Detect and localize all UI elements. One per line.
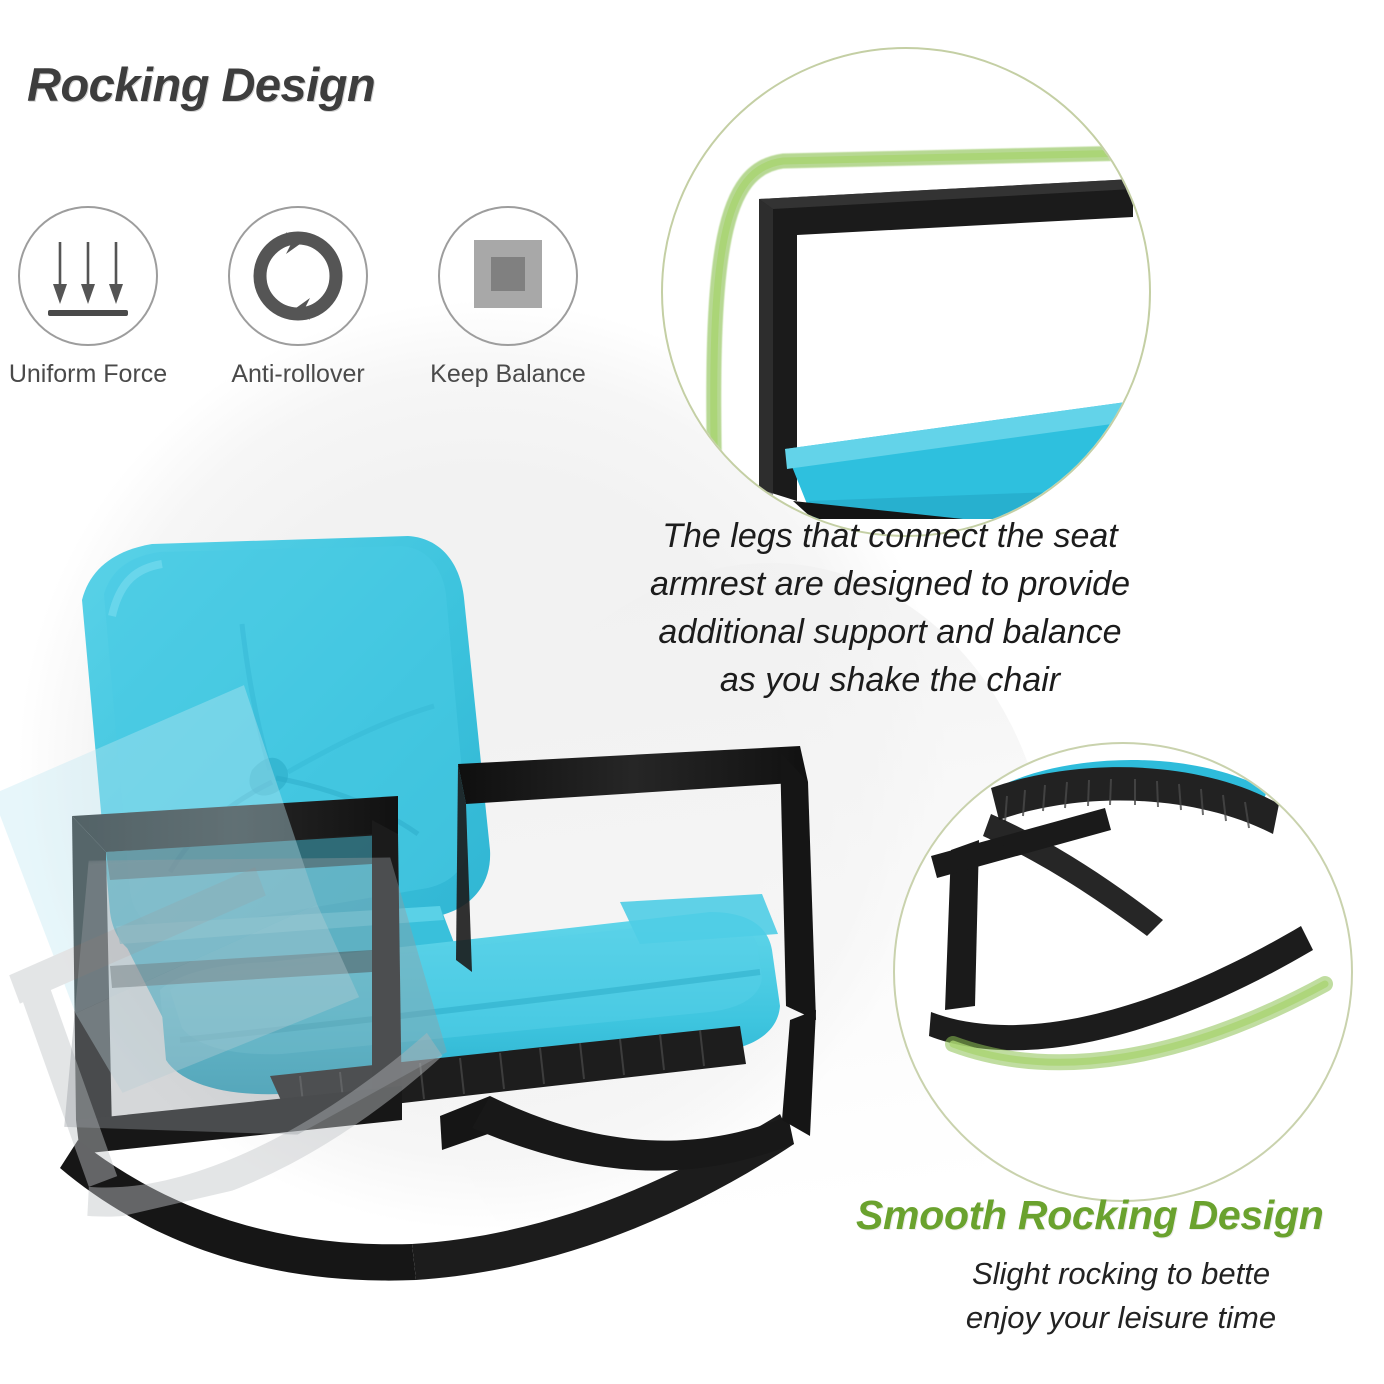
nested-squares-icon <box>456 224 560 328</box>
bottom-caption-line-1: Slight rocking to bette <box>876 1252 1366 1296</box>
feature-circle <box>18 206 158 346</box>
feature-label: Keep Balance <box>430 360 586 389</box>
product-photo-rocking-chair <box>20 520 840 1340</box>
feature-label: Uniform Force <box>9 360 167 389</box>
infographic-canvas: Rocking Design Uniform Force <box>0 0 1384 1384</box>
inset-rocker-closeup <box>893 742 1353 1202</box>
feature-icon-row: Uniform Force Anti-rollover Keep Bal <box>14 206 582 389</box>
feature-uniform-force: Uniform Force <box>14 206 162 389</box>
feature-circle <box>228 206 368 346</box>
feature-label: Anti-rollover <box>231 360 364 389</box>
rocker-base-illustration <box>895 744 1351 1200</box>
smooth-rocking-heading: Smooth Rocking Design <box>856 1192 1376 1239</box>
inset-armrest-closeup <box>661 47 1151 537</box>
feature-keep-balance: Keep Balance <box>434 206 582 389</box>
feature-circle <box>438 206 578 346</box>
smooth-rocking-caption: Slight rocking to bette enjoy your leisu… <box>876 1252 1366 1340</box>
armrest-leg-illustration <box>663 49 1149 535</box>
down-arrows-on-bar-icon <box>36 224 140 328</box>
bottom-caption-line-2: enjoy your leisure time <box>876 1296 1366 1340</box>
page-title: Rocking Design <box>27 57 375 112</box>
circular-rotation-arrows-icon <box>246 224 350 328</box>
feature-anti-rollover: Anti-rollover <box>224 206 372 389</box>
